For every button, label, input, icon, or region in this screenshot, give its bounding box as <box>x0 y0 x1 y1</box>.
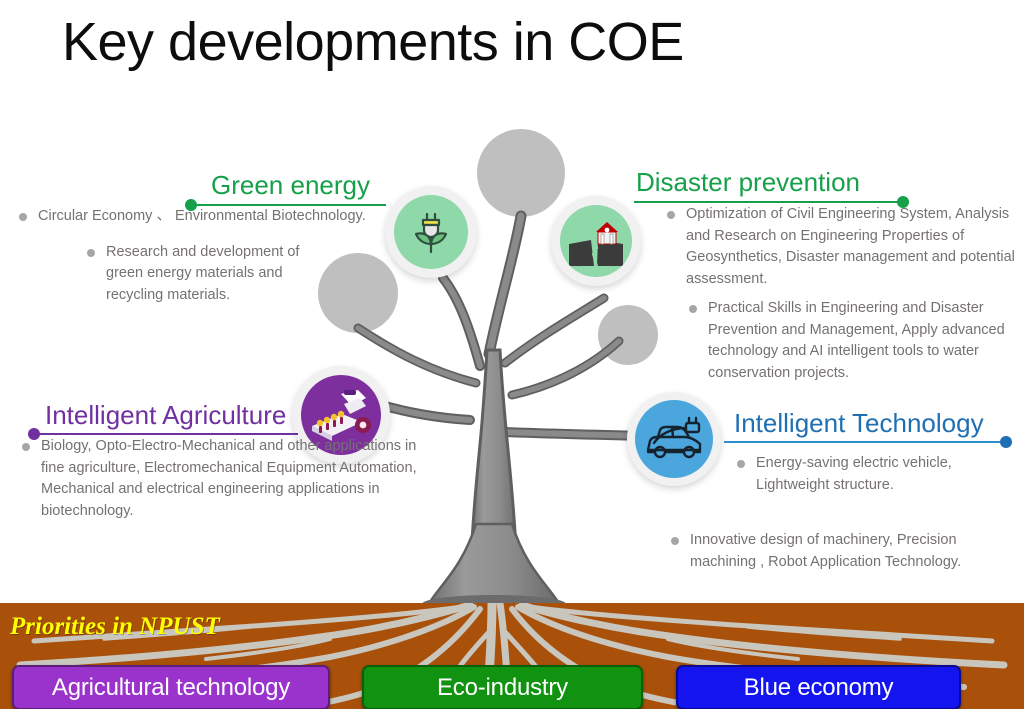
list-item: Research and development of green energy… <box>106 242 324 307</box>
page-title: Key developments in COE <box>62 8 684 76</box>
list-item: Energy-saving electric vehicle, Lightwei… <box>756 453 1016 496</box>
slide-canvas: Key developments in COE <box>0 0 1024 709</box>
bullet-dot <box>689 305 697 313</box>
intelligent-agriculture-accent-rule <box>36 433 298 435</box>
intelligent-technology-accent-rule <box>724 441 1004 443</box>
bullet-dot <box>87 249 95 257</box>
disaster-prevention-bullets: Optimization of Civil Engineering System… <box>686 204 1024 384</box>
pill-blue-economy[interactable]: Blue economy <box>676 665 961 709</box>
section-title-disaster-prevention: Disaster prevention <box>636 167 860 197</box>
section-title-intelligent-agriculture: Intelligent Agriculture <box>45 400 286 430</box>
canopy-circle <box>598 305 658 365</box>
intelligent-technology-badge[interactable] <box>627 392 721 486</box>
earthquake-house-icon <box>567 214 625 268</box>
list-item: Innovative design of machinery, Precisio… <box>690 530 1020 573</box>
bullet-dot <box>737 460 745 468</box>
list-item: Biology, Opto-Electro-Mechanical and oth… <box>41 436 435 522</box>
electric-car-icon <box>642 413 706 465</box>
intelligent-agriculture-accent-dot <box>28 428 40 440</box>
green-energy-badge[interactable] <box>385 186 477 278</box>
canopy-circle <box>477 129 565 217</box>
tree-trunk <box>470 350 518 605</box>
intelligent-agriculture-bullets: Biology, Opto-Electro-Mechanical and oth… <box>41 436 435 522</box>
list-item: Practical Skills in Engineering and Disa… <box>708 298 1024 384</box>
plug-plant-icon <box>403 204 459 260</box>
tree-base-flare <box>428 524 560 605</box>
list-item: Optimization of Civil Engineering System… <box>686 204 1024 290</box>
list-item: Circular Economy 、 Environmental Biotech… <box>38 206 368 228</box>
disaster-prevention-accent-rule <box>634 201 898 203</box>
intelligent-technology-bullets: Energy-saving electric vehicle, Lightwei… <box>756 453 1016 496</box>
pill-eco-industry[interactable]: Eco-industry <box>362 665 643 709</box>
section-title-green-energy: Green energy <box>211 170 370 200</box>
bullet-dot <box>671 537 679 545</box>
pill-label: Agricultural technology <box>52 674 290 702</box>
intelligent-technology-bullets-secondary: Innovative design of machinery, Precisio… <box>690 530 1020 573</box>
bullet-dot <box>667 211 675 219</box>
disaster-prevention-badge[interactable] <box>551 196 641 286</box>
priorities-heading: Priorities in NPUST <box>10 612 220 642</box>
section-title-intelligent-technology: Intelligent Technology <box>734 408 984 438</box>
pill-label: Eco-industry <box>437 674 568 702</box>
intelligent-technology-accent-dot <box>1000 436 1012 448</box>
green-energy-bullets: Circular Economy 、 Environmental Biotech… <box>38 206 368 306</box>
bullet-dot <box>22 443 30 451</box>
pill-agricultural-technology[interactable]: Agricultural technology <box>12 665 330 709</box>
bullet-dot <box>19 213 27 221</box>
pill-label: Blue economy <box>744 674 894 702</box>
